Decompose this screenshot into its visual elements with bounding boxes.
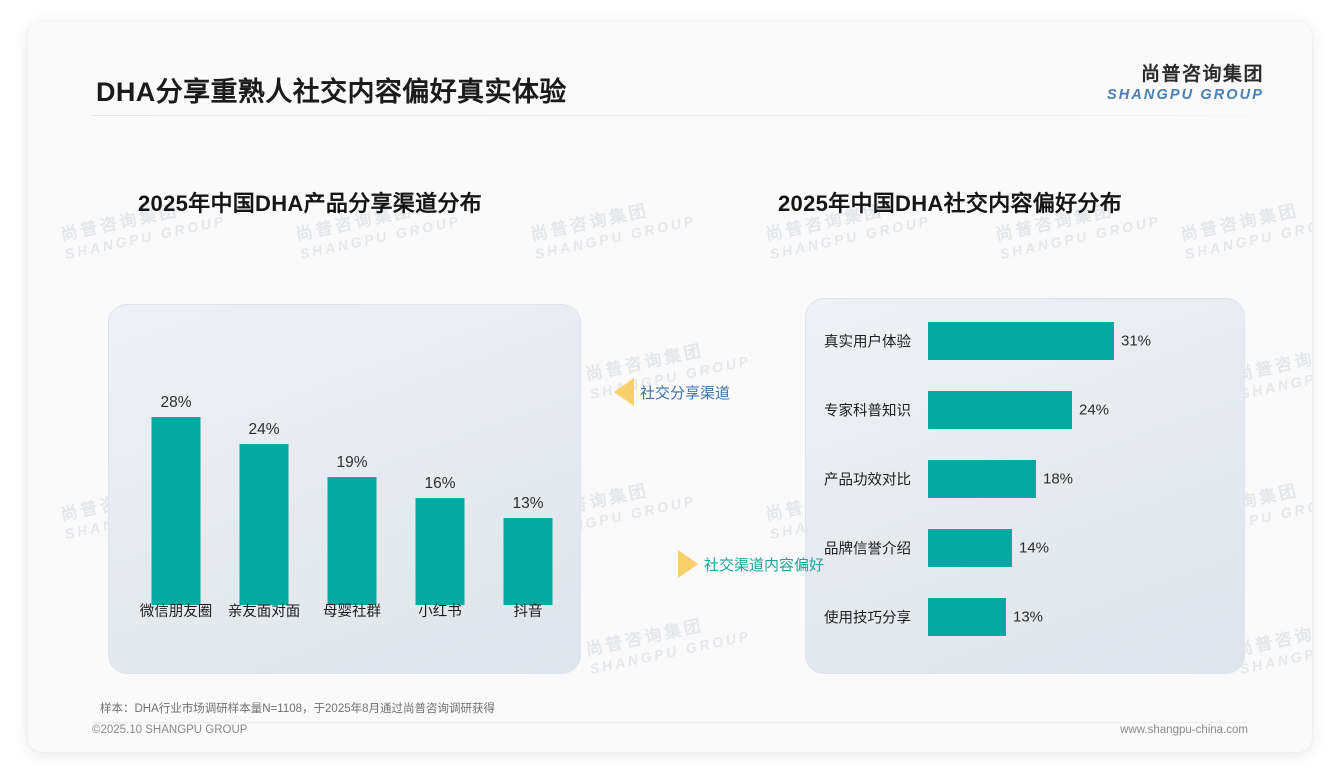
- watermark-text: 尚普咨询集团SHANGPU GROUP: [528, 187, 697, 262]
- arrow-right-icon: [678, 550, 698, 578]
- hbar-bar[interactable]: [928, 598, 1006, 636]
- hbar-chart-row[interactable]: 品牌信誉介绍14%: [806, 526, 1244, 570]
- column-bar[interactable]: [416, 498, 465, 606]
- hbar-category-label: 专家科普知识: [824, 400, 911, 421]
- hbar-category-label: 真实用户体验: [824, 331, 911, 352]
- slide-footer: ©2025.10 SHANGPU GROUP www.shangpu-china…: [28, 716, 1312, 752]
- chart-title-content-preference: 2025年中国DHA社交内容偏好分布: [778, 186, 1122, 218]
- column-value-label: 13%: [512, 495, 543, 513]
- hbar-value-label: 18%: [1043, 471, 1073, 488]
- brand-logo: 尚普咨询集团 SHANGPU GROUP: [1107, 64, 1264, 104]
- column-bar[interactable]: [152, 417, 201, 605]
- hbar-bar[interactable]: [928, 460, 1036, 498]
- hbar-chart-row[interactable]: 真实用户体验31%: [806, 319, 1244, 363]
- hbar-value-label: 31%: [1121, 333, 1151, 350]
- logo-english-text: SHANGPU GROUP: [1107, 87, 1264, 104]
- column-chart-card: 28%微信朋友圈24%亲友面对面19%母婴社群16%小红书13%抖音: [108, 304, 581, 674]
- hbar-chart-row[interactable]: 专家科普知识24%: [806, 388, 1244, 432]
- column-chart-item[interactable]: 16%小红书: [401, 304, 479, 673]
- hbar-bar[interactable]: [928, 322, 1114, 360]
- hbar-bar[interactable]: [928, 391, 1072, 429]
- arrow-left-icon: [614, 378, 634, 406]
- connector-share-channel: 社交分享渠道: [614, 378, 730, 406]
- column-bar[interactable]: [504, 518, 553, 605]
- slide-body: 尚普咨询集团SHANGPU GROUP尚普咨询集团SHANGPU GROUP尚普…: [28, 116, 1312, 696]
- column-category-label: 母婴社群: [323, 600, 381, 621]
- column-value-label: 24%: [248, 421, 279, 439]
- chart-title-share-channel: 2025年中国DHA产品分享渠道分布: [138, 186, 482, 218]
- hbar-bar[interactable]: [928, 529, 1012, 567]
- website-url[interactable]: www.shangpu-china.com: [1120, 724, 1248, 736]
- page-title: DHA分享重熟人社交内容偏好真实体验: [96, 70, 567, 109]
- column-chart-item[interactable]: 13%抖音: [489, 304, 567, 673]
- column-category-label: 微信朋友圈: [140, 600, 213, 621]
- hbar-category-label: 产品功效对比: [824, 469, 911, 490]
- column-category-label: 亲友面对面: [228, 600, 301, 621]
- column-chart-item[interactable]: 19%母婴社群: [313, 304, 391, 673]
- column-chart-item[interactable]: 28%微信朋友圈: [137, 304, 215, 673]
- hbar-chart-row[interactable]: 使用技巧分享13%: [806, 595, 1244, 639]
- watermark-text: 尚普咨询集团SHANGPU GROUP: [583, 602, 752, 677]
- column-value-label: 28%: [160, 394, 191, 412]
- column-bar[interactable]: [328, 477, 377, 605]
- column-chart-item[interactable]: 24%亲友面对面: [225, 304, 303, 673]
- copyright-text: ©2025.10 SHANGPU GROUP: [92, 724, 247, 736]
- column-bar[interactable]: [240, 444, 289, 605]
- column-category-label: 小红书: [418, 600, 462, 621]
- hbar-category-label: 使用技巧分享: [824, 607, 911, 628]
- slide: DHA分享重熟人社交内容偏好真实体验 尚普咨询集团 SHANGPU GROUP …: [28, 22, 1312, 752]
- hbar-chart-card: 真实用户体验31%专家科普知识24%产品功效对比18%品牌信誉介绍14%使用技巧…: [805, 298, 1245, 674]
- connector-content-preference: 社交渠道内容偏好: [678, 550, 824, 578]
- horizontal-bar-chart: 真实用户体验31%专家科普知识24%产品功效对比18%品牌信誉介绍14%使用技巧…: [806, 299, 1244, 673]
- column-chart: 28%微信朋友圈24%亲友面对面19%母婴社群16%小红书13%抖音: [109, 305, 580, 673]
- hbar-chart-row[interactable]: 产品功效对比18%: [806, 457, 1244, 501]
- column-category-label: 抖音: [514, 600, 543, 621]
- hbar-category-label: 品牌信誉介绍: [824, 538, 911, 559]
- hbar-value-label: 13%: [1013, 609, 1043, 626]
- logo-chinese-text: 尚普咨询集团: [1107, 64, 1264, 86]
- hbar-value-label: 14%: [1019, 540, 1049, 557]
- column-value-label: 19%: [336, 454, 367, 472]
- hbar-value-label: 24%: [1079, 402, 1109, 419]
- connector-top-label: 社交分享渠道: [640, 382, 730, 403]
- slide-header: DHA分享重熟人社交内容偏好真实体验 尚普咨询集团 SHANGPU GROUP: [28, 22, 1312, 116]
- connector-bottom-label: 社交渠道内容偏好: [704, 554, 824, 575]
- column-value-label: 16%: [424, 475, 455, 493]
- source-footnote: 样本：DHA行业市场调研样本量N=1108，于2025年8月通过尚普咨询调研获得: [100, 700, 495, 716]
- watermark-text: 尚普咨询集团SHANGPU GROUP: [1178, 187, 1312, 262]
